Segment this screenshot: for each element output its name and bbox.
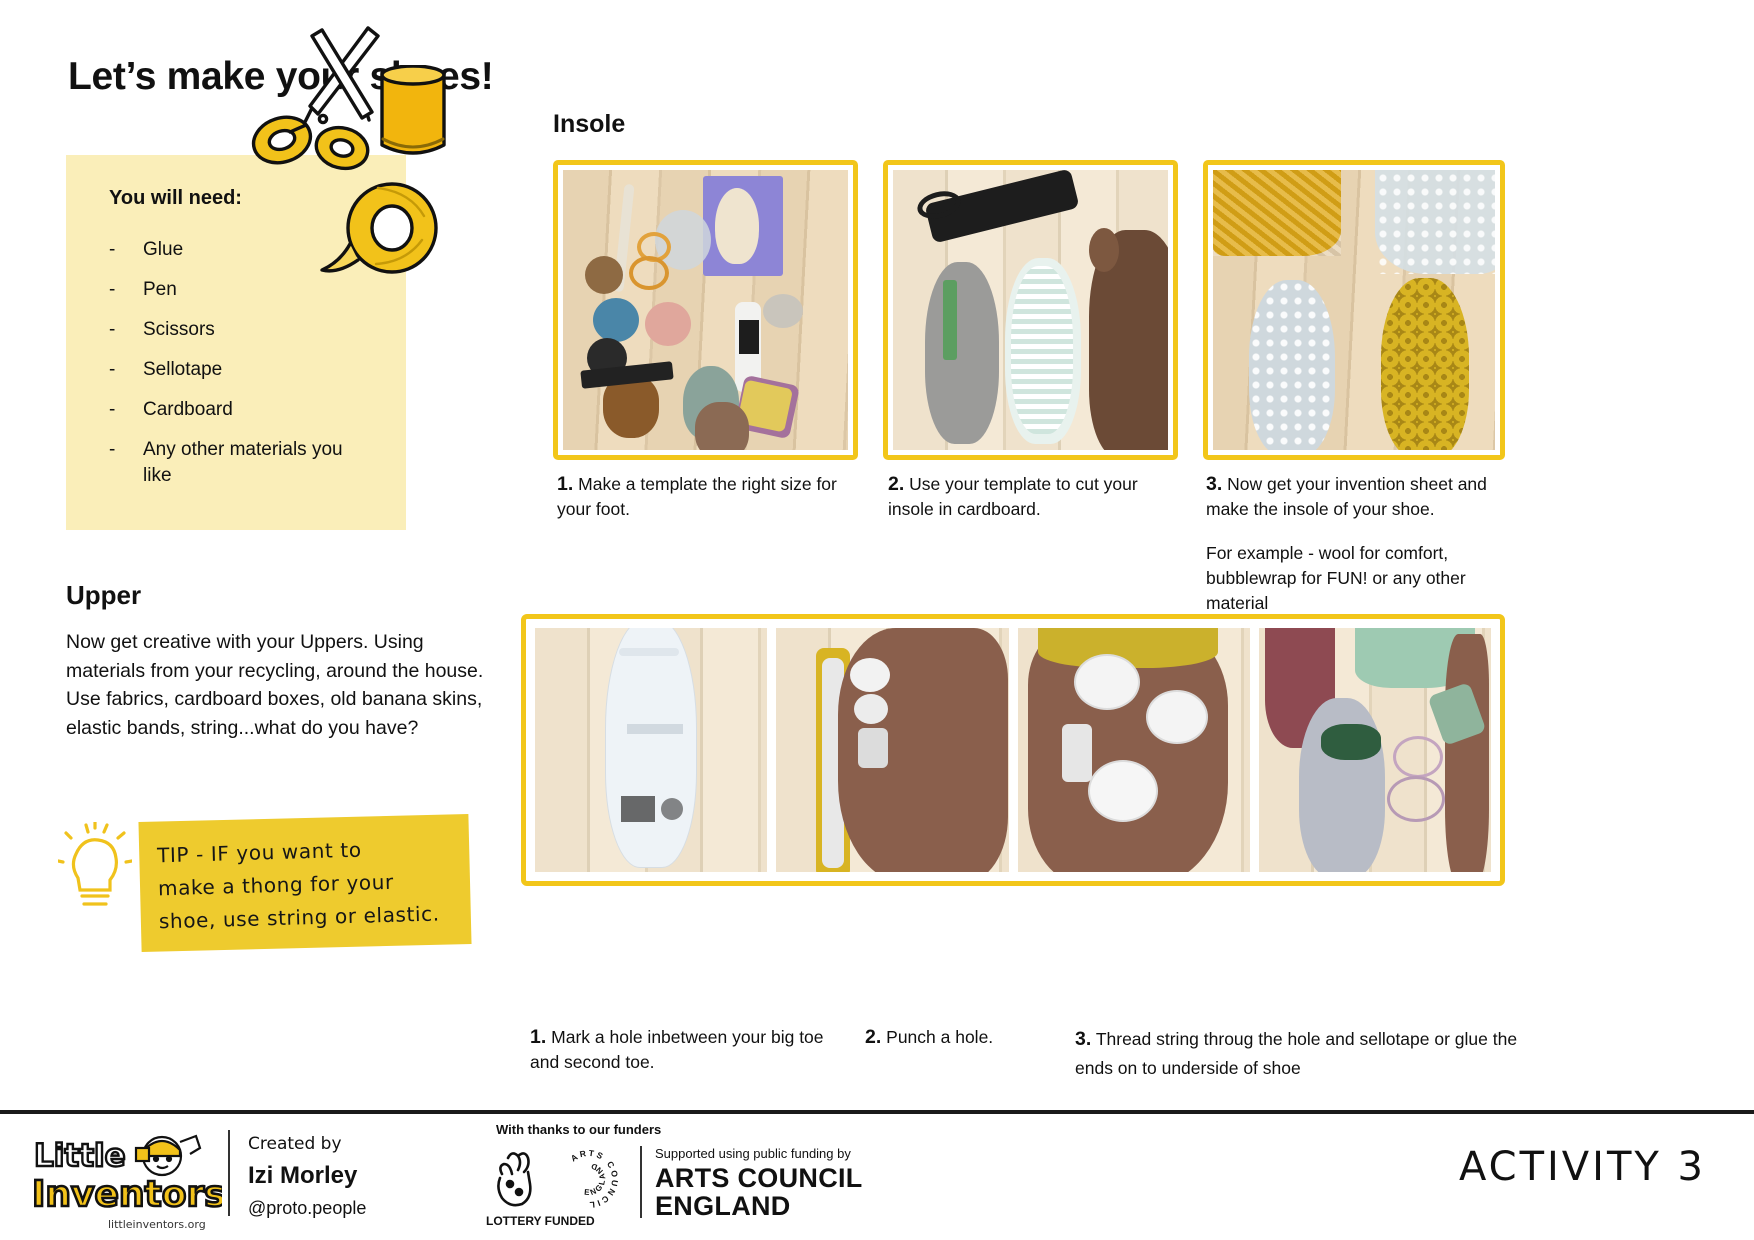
step-number: 3.	[1075, 1028, 1091, 1050]
materials-heading: You will need:	[109, 187, 242, 210]
insole-photo-1	[553, 160, 858, 460]
material-label: Pen	[143, 277, 177, 303]
upper-photo-3	[1018, 628, 1250, 872]
step-number: 3.	[1206, 473, 1222, 495]
insole-heading: Insole	[553, 110, 625, 139]
upper-body-text: Now get creative with your Uppers. Using…	[66, 628, 486, 742]
scissors-icon	[250, 22, 390, 172]
footer: Little Inventors littleinventors.org Cre…	[0, 1114, 1754, 1240]
list-item: - Sellotape	[109, 357, 379, 383]
bullet-dash: -	[109, 277, 143, 303]
photo-cut-insole	[893, 170, 1168, 450]
step-number: 1.	[530, 1026, 546, 1048]
upper-caption-3: 3. Thread string throug the hole and sel…	[1075, 1025, 1525, 1083]
arts-council-seal-icon: ARTS COUNCIL ENGLAND	[556, 1146, 622, 1212]
material-label: Cardboard	[143, 397, 233, 423]
upper-photo-1	[535, 628, 767, 872]
arts-council-supported-label: Supported using public funding by	[655, 1146, 851, 1161]
step-number: 2.	[888, 473, 904, 495]
list-item: - Any other materials you like	[109, 437, 379, 489]
activity-number: ACTIVITY 3	[1459, 1144, 1706, 1190]
pen-icon	[370, 65, 475, 185]
step-text: Punch a hole.	[886, 1027, 993, 1047]
step-text: Mark a hole inbetween your big toe and s…	[530, 1027, 824, 1072]
list-item: - Scissors	[109, 317, 379, 343]
photo-insole-materials	[1213, 170, 1495, 450]
insole-caption-2: 2. Use your template to cut your insole …	[888, 472, 1173, 522]
upper-photo-4	[1259, 628, 1491, 872]
bullet-dash: -	[109, 317, 143, 343]
material-label: Scissors	[143, 317, 215, 343]
activity-sheet: Let’s make your shoes! You will need: - …	[0, 0, 1754, 1240]
insole-photo-2	[883, 160, 1178, 460]
svg-text:Little: Little	[34, 1138, 126, 1174]
material-label: Glue	[143, 237, 183, 263]
arts-council-line-2: ENGLAND	[655, 1192, 863, 1220]
insole-photo-3	[1203, 160, 1505, 460]
step-extra-text: For example - wool for comfort, bubblewr…	[1206, 541, 1511, 616]
bullet-dash: -	[109, 397, 143, 423]
created-by-label: Created by	[248, 1134, 342, 1154]
lottery-fingers-icon	[488, 1148, 552, 1210]
material-label: Sellotape	[143, 357, 222, 383]
upper-caption-1: 1. Mark a hole inbetween your big toe an…	[530, 1025, 830, 1075]
little-inventors-logo: Little Inventors	[32, 1126, 222, 1222]
upper-heading: Upper	[66, 580, 141, 611]
funders-label: With thanks to our funders	[496, 1122, 661, 1137]
step-number: 1.	[557, 473, 573, 495]
insole-caption-1: 1. Make a template the right size for yo…	[557, 472, 847, 522]
step-text: Now get your invention sheet and make th…	[1206, 474, 1487, 519]
step-text: Use your template to cut your insole in …	[888, 474, 1138, 519]
list-item: - Cardboard	[109, 397, 379, 423]
upper-photo-2	[776, 628, 1008, 872]
sellotape-icon	[318, 170, 448, 295]
step-number: 2.	[865, 1026, 881, 1048]
svg-text:ENGLAND: ENGLAND	[584, 1161, 607, 1198]
author-name: Izi Morley	[248, 1162, 357, 1190]
author-handle: @proto.people	[248, 1198, 366, 1219]
svg-text:Inventors: Inventors	[32, 1174, 222, 1215]
lottery-funded-label: LOTTERY FUNDED	[486, 1214, 595, 1228]
step-text: Thread string throug the hole and sellot…	[1075, 1029, 1517, 1078]
upper-caption-2: 2. Punch a hole.	[865, 1025, 1065, 1050]
insole-caption-3: 3. Now get your invention sheet and make…	[1206, 472, 1511, 616]
footer-divider-1	[228, 1130, 230, 1216]
step-text: Make a template the right size for your …	[557, 474, 837, 519]
logo-url: littleinventors.org	[108, 1218, 206, 1231]
material-label: Any other materials you like	[143, 437, 343, 489]
photo-materials-flatlay	[563, 170, 848, 450]
arts-council-name: ARTS COUNCIL ENGLAND	[655, 1164, 863, 1220]
footer-divider-2	[640, 1146, 642, 1218]
tip-note-text: TIP - IF you want to make a thong for yo…	[157, 831, 470, 939]
upper-photo-strip	[521, 614, 1505, 886]
bullet-dash: -	[109, 437, 143, 463]
arts-council-line-1: ARTS COUNCIL	[655, 1164, 863, 1192]
bullet-dash: -	[109, 237, 143, 263]
lightbulb-icon	[58, 822, 132, 918]
svg-text:ARTS COUNCIL: ARTS COUNCIL	[569, 1148, 621, 1210]
bullet-dash: -	[109, 357, 143, 383]
